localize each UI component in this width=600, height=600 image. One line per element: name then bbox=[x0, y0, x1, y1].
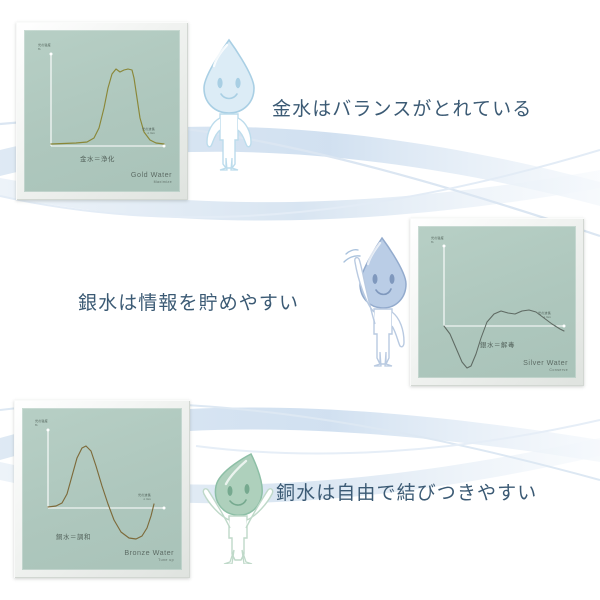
chart-brand-sub-gold: Maximize bbox=[154, 180, 172, 184]
chart-brand-gold: Gold Water bbox=[131, 170, 172, 179]
chart-panel-silver[interactable]: 光の強度 % 光の波長 λ /nm 銀水＝解毒 Silver Water Con… bbox=[410, 218, 584, 386]
headline-gold: 金水はバランスがとれている bbox=[272, 94, 532, 121]
mascot-gold-drop[interactable] bbox=[196, 36, 262, 172]
eye-left-icon bbox=[228, 486, 233, 496]
arm-right bbox=[392, 312, 404, 347]
drop-head-icon bbox=[204, 40, 254, 113]
y-axis-label-gold: 光の強度 % bbox=[38, 44, 51, 52]
chart-brand-sub-bronze: Tune up bbox=[158, 558, 174, 562]
body-torso bbox=[220, 114, 238, 168]
chart-caption-bronze: 銅水＝調和 bbox=[56, 532, 91, 541]
body-torso bbox=[229, 516, 247, 560]
eye-right-icon bbox=[235, 78, 240, 88]
eye-right-icon bbox=[245, 484, 250, 494]
mascot-silver-drop[interactable] bbox=[340, 232, 414, 370]
chart-caption-gold: 金水＝浄化 bbox=[80, 154, 115, 163]
poster-canvas: 光の強度 % 光の波長 λ /nm 金水＝浄化 Gold Water Maxim… bbox=[0, 0, 600, 600]
eye-left-icon bbox=[373, 274, 378, 284]
headline-silver: 銀水は情報を貯めやすい bbox=[78, 288, 299, 315]
headline-bronze: 銅水は自由で結びつきやすい bbox=[276, 478, 537, 505]
arm-right bbox=[238, 118, 251, 147]
chart-brand-silver: Silver Water bbox=[523, 358, 568, 367]
y-axis-label-bronze: 光の強度 % bbox=[35, 420, 48, 428]
chart-panel-gold[interactable]: 光の強度 % 光の波長 λ /nm 金水＝浄化 Gold Water Maxim… bbox=[16, 22, 188, 200]
spectrum-plot-bronze bbox=[22, 408, 182, 570]
y-axis-label-silver: 光の強度 % bbox=[431, 237, 444, 245]
y-axis-cap bbox=[47, 429, 50, 432]
y-axis-cap bbox=[50, 53, 53, 56]
x-axis-label-gold: 光の波長 λ /nm bbox=[142, 128, 155, 136]
x-axis-cap bbox=[163, 145, 166, 148]
x-axis-cap bbox=[163, 507, 166, 510]
x-axis-cap bbox=[563, 325, 566, 328]
chart-mat-silver: 光の強度 % 光の波長 λ /nm 銀水＝解毒 Silver Water Con… bbox=[418, 226, 576, 378]
wave-motion-line-1 bbox=[346, 250, 358, 254]
drop-head-icon bbox=[215, 454, 262, 515]
chart-mat-bronze: 光の強度 % 光の波長 λ /nm 銅水＝調和 Bronze Water Tun… bbox=[22, 408, 182, 570]
x-axis-label-bronze: 光の波長 λ /nm bbox=[138, 494, 151, 502]
body-torso bbox=[374, 309, 392, 364]
chart-caption-silver: 銀水＝解毒 bbox=[480, 340, 515, 349]
spectrum-plot-silver bbox=[418, 226, 576, 378]
y-axis-cap bbox=[443, 245, 446, 248]
chart-mat-gold: 光の強度 % 光の波長 λ /nm 金水＝浄化 Gold Water Maxim… bbox=[24, 30, 180, 192]
eye-left-icon bbox=[217, 78, 222, 88]
arm-left bbox=[207, 118, 220, 147]
chart-brand-bronze: Bronze Water bbox=[124, 548, 174, 557]
mascot-bronze-drop[interactable] bbox=[196, 446, 282, 564]
spectrum-plot-gold bbox=[24, 30, 180, 192]
x-axis-label-silver: 光の波長 λ /nm bbox=[538, 312, 551, 320]
eye-right-icon bbox=[390, 274, 395, 284]
chart-panel-bronze[interactable]: 光の強度 % 光の波長 λ /nm 銅水＝調和 Bronze Water Tun… bbox=[14, 400, 190, 578]
chart-brand-sub-silver: Conserve bbox=[549, 368, 568, 372]
